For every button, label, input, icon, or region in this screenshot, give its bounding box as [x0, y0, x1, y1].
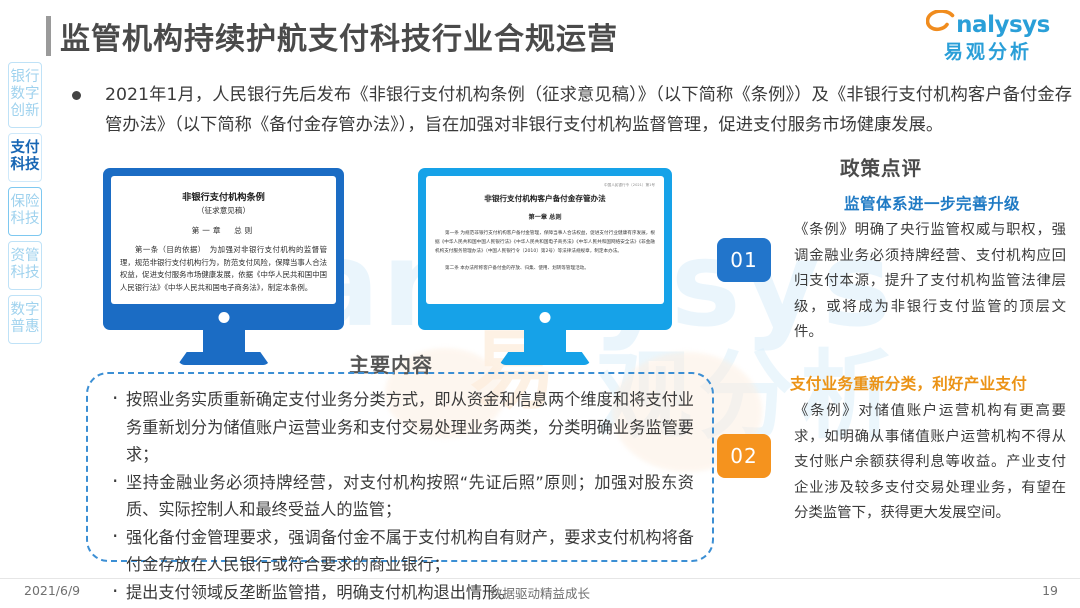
sidebar-item-label: 保险科技 — [9, 194, 41, 228]
sidebar-item-insurance-tech[interactable]: 保险科技 — [8, 187, 42, 236]
brand-logo: nalysys 易观分析 — [918, 10, 1058, 66]
page-title: 监管机构持续护航支付科技行业合规运营 — [60, 14, 618, 58]
bullet-dot-icon — [72, 91, 81, 100]
doc-title: 非银行支付机构客户备付金存管办法 — [435, 193, 655, 204]
doc-body: 第一条 为规范非银行支付机构客户备付金管理，保障当事人合法权益，促进支付行业健康… — [435, 229, 655, 256]
main-content-item: 坚持金融业务必须持牌经营，对支付机构按照“先证后照”原则；加强对股东资质、实际控… — [110, 469, 694, 524]
monitor-custody: 中国人民银行令〔2021〕第1号 非银行支付机构客户备付金存管办法 第一章 总则… — [418, 168, 672, 365]
monitor-power-dot-icon — [540, 312, 551, 323]
doc-chapter: 第一章 总则 — [435, 212, 655, 221]
monitor-base — [178, 352, 270, 365]
doc-body-2: 第二条 本办法所称客户备付金的存放、归集、使用、划转等管理活动。 — [435, 264, 655, 273]
sidebar-item-digital-inclusive-finance[interactable]: 数字普惠 — [8, 295, 42, 344]
footer-slogan: 数据驱动精益成长 — [0, 583, 1080, 602]
footer-divider — [0, 578, 1080, 579]
main-content-item: 按照业务实质重新确定支付业务分类方式，即从资金和信息两个维度和将支付业务重新划分… — [110, 386, 694, 469]
logo-wordmark-cn: 易观分析 — [918, 43, 1058, 62]
sidebar-item-label: 支付科技 — [9, 140, 41, 174]
doc-title: 非银行支付机构条例 — [120, 189, 327, 203]
policy-block-2-body: 《条例》对储值账户运营机构有更高要求，如明确从事储值账户运营机构不得从支付账户余… — [794, 399, 1066, 527]
sidebar-item-label: 银行数字创新 — [9, 69, 41, 120]
policy-block-1-body: 《条例》明确了央行监管权威与职权，强调金融业务必须持牌经营、支付机构应回归支付本… — [794, 218, 1066, 346]
policy-block-2-title: 支付业务重新分类，利好产业支付 — [790, 372, 1072, 394]
monitor-neck — [203, 330, 245, 352]
sidebar-item-label: 资管科技 — [9, 248, 41, 282]
step-badge-01: 01 — [717, 238, 771, 282]
footer-page-number: 19 — [1042, 583, 1058, 598]
monitor-neck — [524, 330, 566, 352]
lead-paragraph: 2021年1月，人民银行先后发布《非银行支付机构条例（征求意见稿）》（以下简称《… — [72, 80, 1072, 140]
sidebar-item-payment-tech[interactable]: 支付科技 — [8, 133, 42, 182]
lead-paragraph-block: 2021年1月，人民银行先后发布《非银行支付机构条例（征求意见稿）》（以下简称《… — [72, 80, 1072, 140]
step-badge-02: 02 — [717, 434, 771, 478]
monitor-regulation: 非银行支付机构条例 （征求意见稿） 第一章 总则 第一条（目的依据） 为加强对非… — [103, 168, 344, 365]
sidebar-item-bank-digital-innovation[interactable]: 银行数字创新 — [8, 62, 42, 128]
monitor-power-dot-icon — [218, 312, 229, 323]
sidebar: 银行数字创新 支付科技 保险科技 资管科技 数字普惠 — [8, 62, 44, 349]
policy-review-heading: 政策点评 — [840, 152, 922, 181]
title-accent-bar — [46, 16, 51, 56]
policy-block-1-title: 监管体系进一步完善升级 — [797, 192, 1067, 214]
doc-body: 第一条（目的依据） 为加强对非银行支付机构的监督管理，规范非银行支付机构行为，防… — [120, 244, 327, 294]
main-content-box: 按照业务实质重新确定支付业务分类方式，即从资金和信息两个维度和将支付业务重新划分… — [86, 372, 714, 562]
monitor-base — [499, 352, 591, 365]
doc-subtitle: （征求意见稿） — [120, 205, 327, 216]
doc-header-note: 中国人民银行令〔2021〕第1号 — [435, 183, 655, 188]
main-content-item: 强化备付金管理要求，强调备付金不属于支付机构自有财产，要求支付机构将备付金存放在… — [110, 524, 694, 579]
doc-chapter: 第一章 总则 — [120, 225, 327, 236]
a-swoosh-icon — [926, 10, 956, 41]
sidebar-item-asset-management-tech[interactable]: 资管科技 — [8, 241, 42, 290]
slide-canvas: analysys 易 观分析 监管机构持续护航支付科技行业合规运营 nalysy… — [0, 0, 1080, 608]
sidebar-item-label: 数字普惠 — [9, 302, 41, 336]
logo-wordmark: nalysys — [956, 14, 1050, 37]
